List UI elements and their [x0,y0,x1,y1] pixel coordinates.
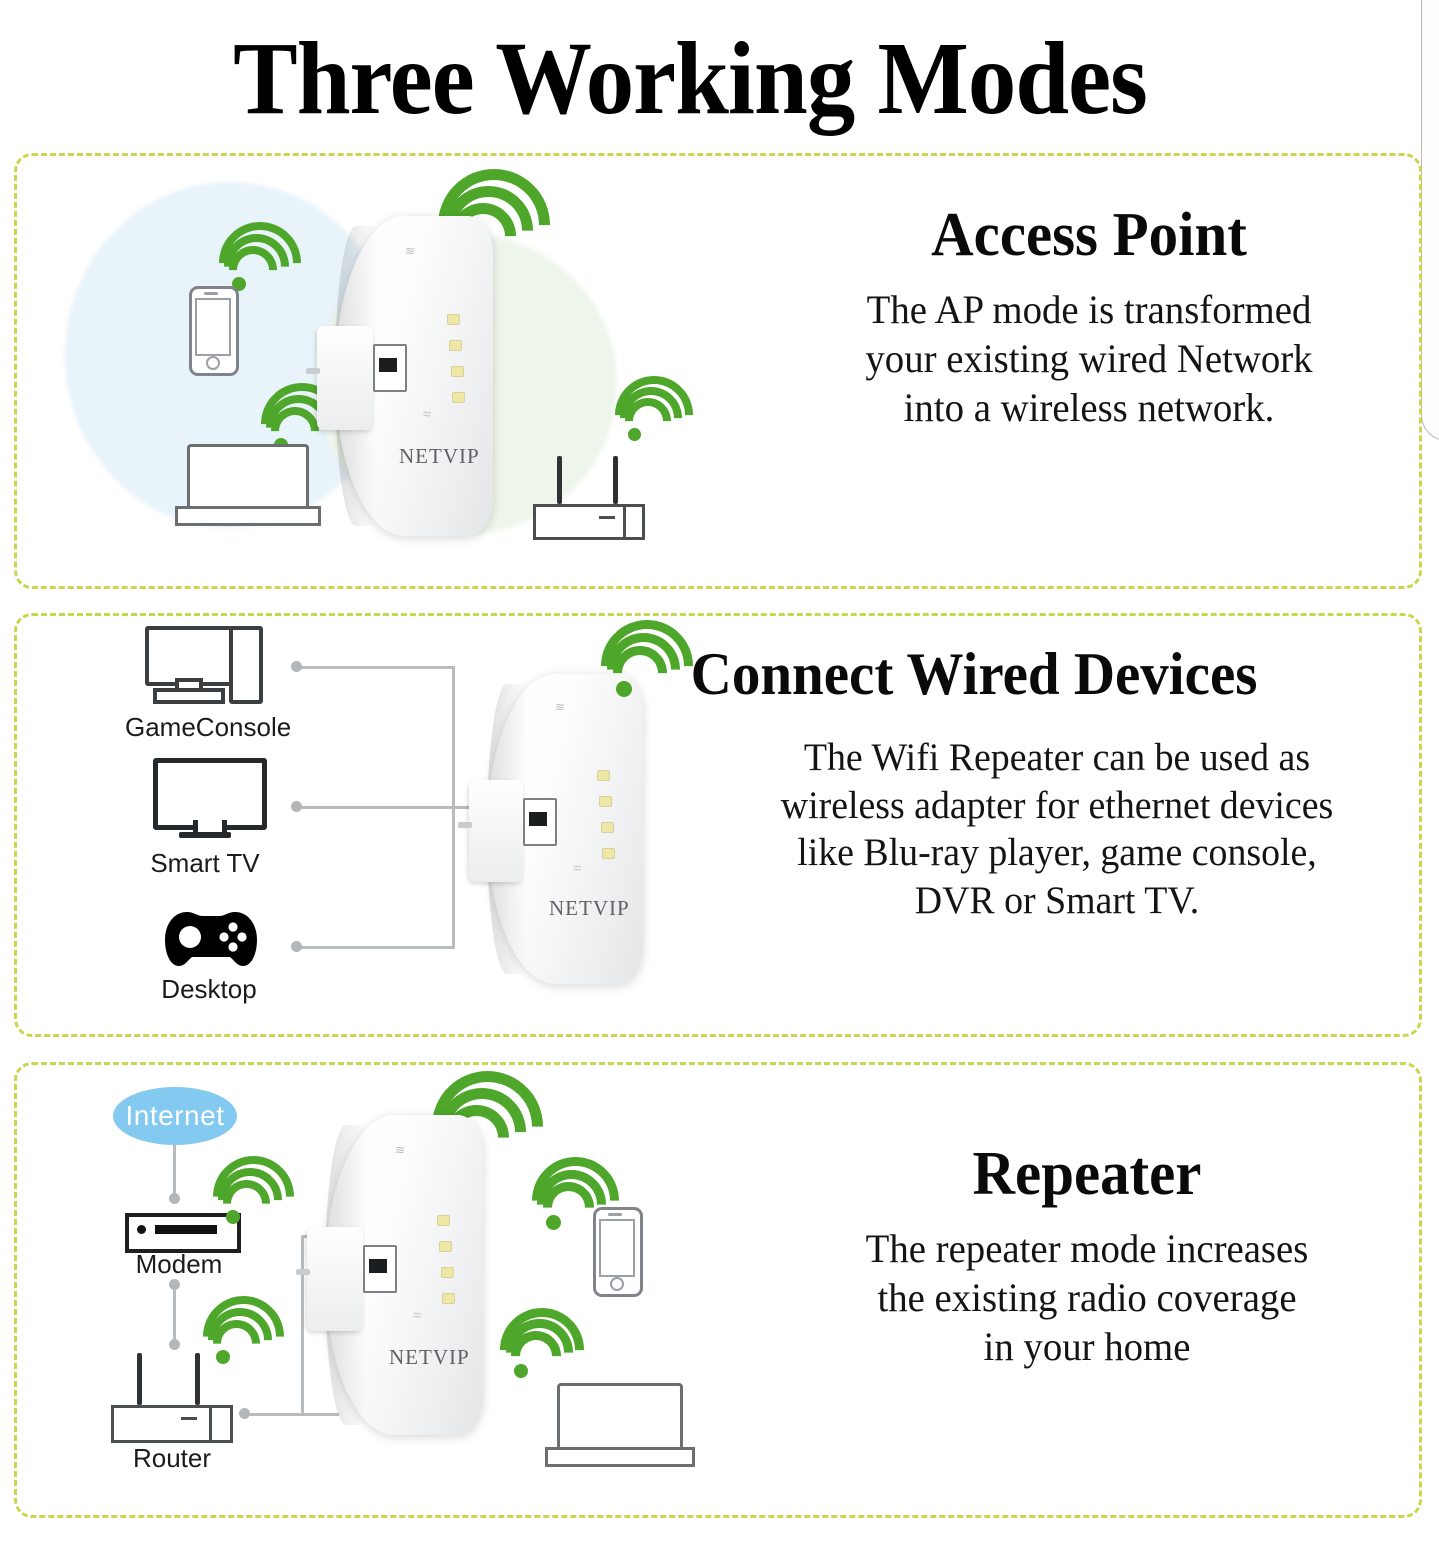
wifi-repeater-device: ≋ ≈ NETVIP [317,216,497,536]
connector-node [291,661,302,672]
node-label-router: Router [109,1443,235,1474]
television-icon [153,758,257,844]
device-brand-label: NETVIP [549,896,630,921]
wifi-signal-icon [627,392,677,442]
mode-text-access-point: Access Point The AP mode is transformed … [759,204,1419,432]
mode-description: The Wifi Repeater can be used as wireles… [669,734,1439,924]
wifi-repeater-device: ≋ ≈ NETVIP [469,674,649,984]
laptop-icon [175,444,315,534]
connector-line [295,946,455,949]
device-brand-label: NETVIP [399,444,480,469]
mode-panel-repeater: Internet Modem Router [14,1062,1422,1518]
background-panel-edge [1421,0,1439,441]
connector-line [295,666,455,669]
connector-node [169,1279,180,1290]
wifi-repeater-device: ≋ ≈ NETVIP [307,1115,487,1435]
node-label-modem: Modem [117,1249,241,1280]
device-label-gameconsole: GameConsole [125,712,285,743]
smartphone-icon [593,1207,637,1291]
laptop-icon [545,1383,689,1477]
internet-cloud-badge: Internet [113,1087,237,1145]
connector-line [301,1235,304,1415]
gamepad-icon [163,908,259,970]
device-top-mark: ≋ [395,1143,405,1157]
device-label-desktop: Desktop [139,974,279,1005]
mode-title: Connect Wired Devices [691,644,1438,704]
mode-panel-connect-wired-devices: GameConsole Smart TV Desktop [14,613,1422,1037]
wps-button-icon: ≈ [573,860,581,877]
connector-node [239,1408,250,1419]
page-title: Three Working Modes [48,24,1331,133]
connector-node [169,1339,180,1350]
desktop-computer-icon [145,626,263,706]
mode-description: The AP mode is transformed your existing… [769,286,1409,432]
device-brand-label: NETVIP [389,1345,470,1370]
connector-node [291,801,302,812]
connector-line [173,1145,176,1199]
device-label-smart-tv: Smart TV [135,848,275,879]
mode-text-connect-wired-devices: Connect Wired Devices The Wifi Repeater … [657,644,1439,924]
wifi-signal-icon [513,1325,567,1379]
mode-title: Access Point [776,204,1403,266]
mode-title: Repeater [755,1143,1420,1205]
connector-node [291,941,302,952]
infographic-page: Three Working Modes [0,0,1439,1566]
device-top-mark: ≋ [555,700,565,714]
mode-description: The repeater mode increases the existing… [748,1225,1427,1371]
wifi-signal-icon [225,1173,277,1225]
wps-button-icon: ≈ [413,1307,421,1324]
mode-panel-access-point: ≋ ≈ NETVIP Access Point The AP mode is t… [14,153,1422,589]
wifi-signal-icon [215,1313,267,1365]
gamepad-glyph [163,908,259,970]
smartphone-icon [189,286,233,370]
modem-icon [125,1213,233,1245]
mode-text-repeater: Repeater The repeater mode increases the… [737,1143,1437,1371]
connector-node [169,1193,180,1204]
wps-button-icon: ≈ [423,406,431,423]
device-top-mark: ≋ [405,244,415,258]
router-icon [533,456,641,534]
wifi-signal-icon [231,238,285,292]
connector-line [173,1283,176,1345]
